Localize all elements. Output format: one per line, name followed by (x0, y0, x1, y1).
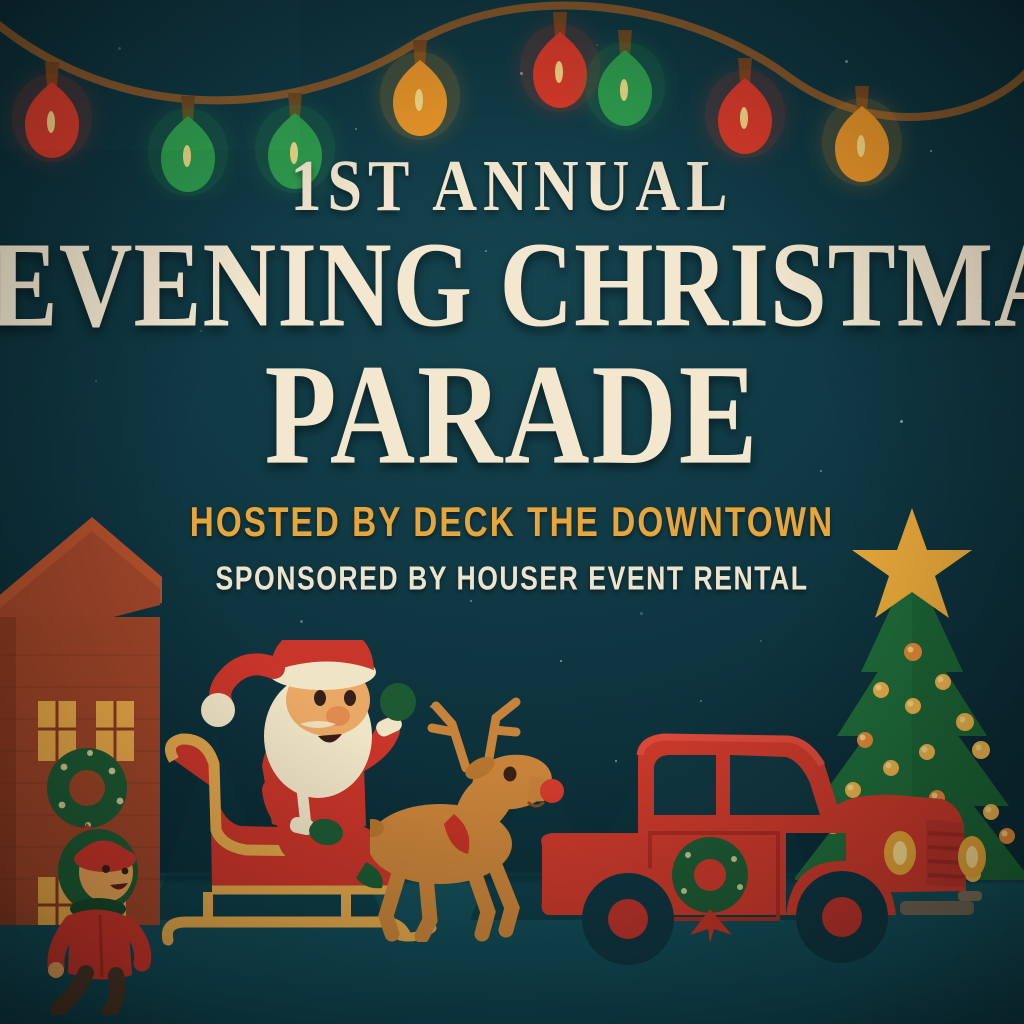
wheel-rear (582, 873, 674, 965)
title-line-2: PARADE (0, 348, 1024, 483)
tree-ornament (905, 698, 921, 714)
tree-ornament (935, 674, 951, 690)
child-figure (30, 815, 170, 1015)
light-bulb-red (705, 58, 785, 158)
sponsored-by-text: SPONSORED BY HOUSER EVENT RENTAL (26, 560, 999, 598)
poster-text-block: 1ST ANNUAL EVENING CHRISTMAS PARADE HOST… (0, 150, 1024, 592)
kicker-text: 1ST ANNUAL (0, 150, 1024, 223)
reindeer (370, 672, 570, 942)
tree-ornament (999, 828, 1015, 844)
christmas-parade-poster: 1ST ANNUAL EVENING CHRISTMAS PARADE HOST… (0, 0, 1024, 1024)
tree-ornament (904, 643, 922, 661)
truck-door-wreath (672, 837, 748, 943)
hosted-by-text: HOSTED BY DECK THE DOWNTOWN (26, 499, 999, 547)
tree-ornament (873, 682, 889, 698)
title-line-1: EVENING CHRISTMAS (0, 228, 1024, 343)
vintage-red-pickup (528, 715, 988, 985)
light-bulb-green (585, 30, 665, 130)
wheel-front (796, 871, 888, 963)
